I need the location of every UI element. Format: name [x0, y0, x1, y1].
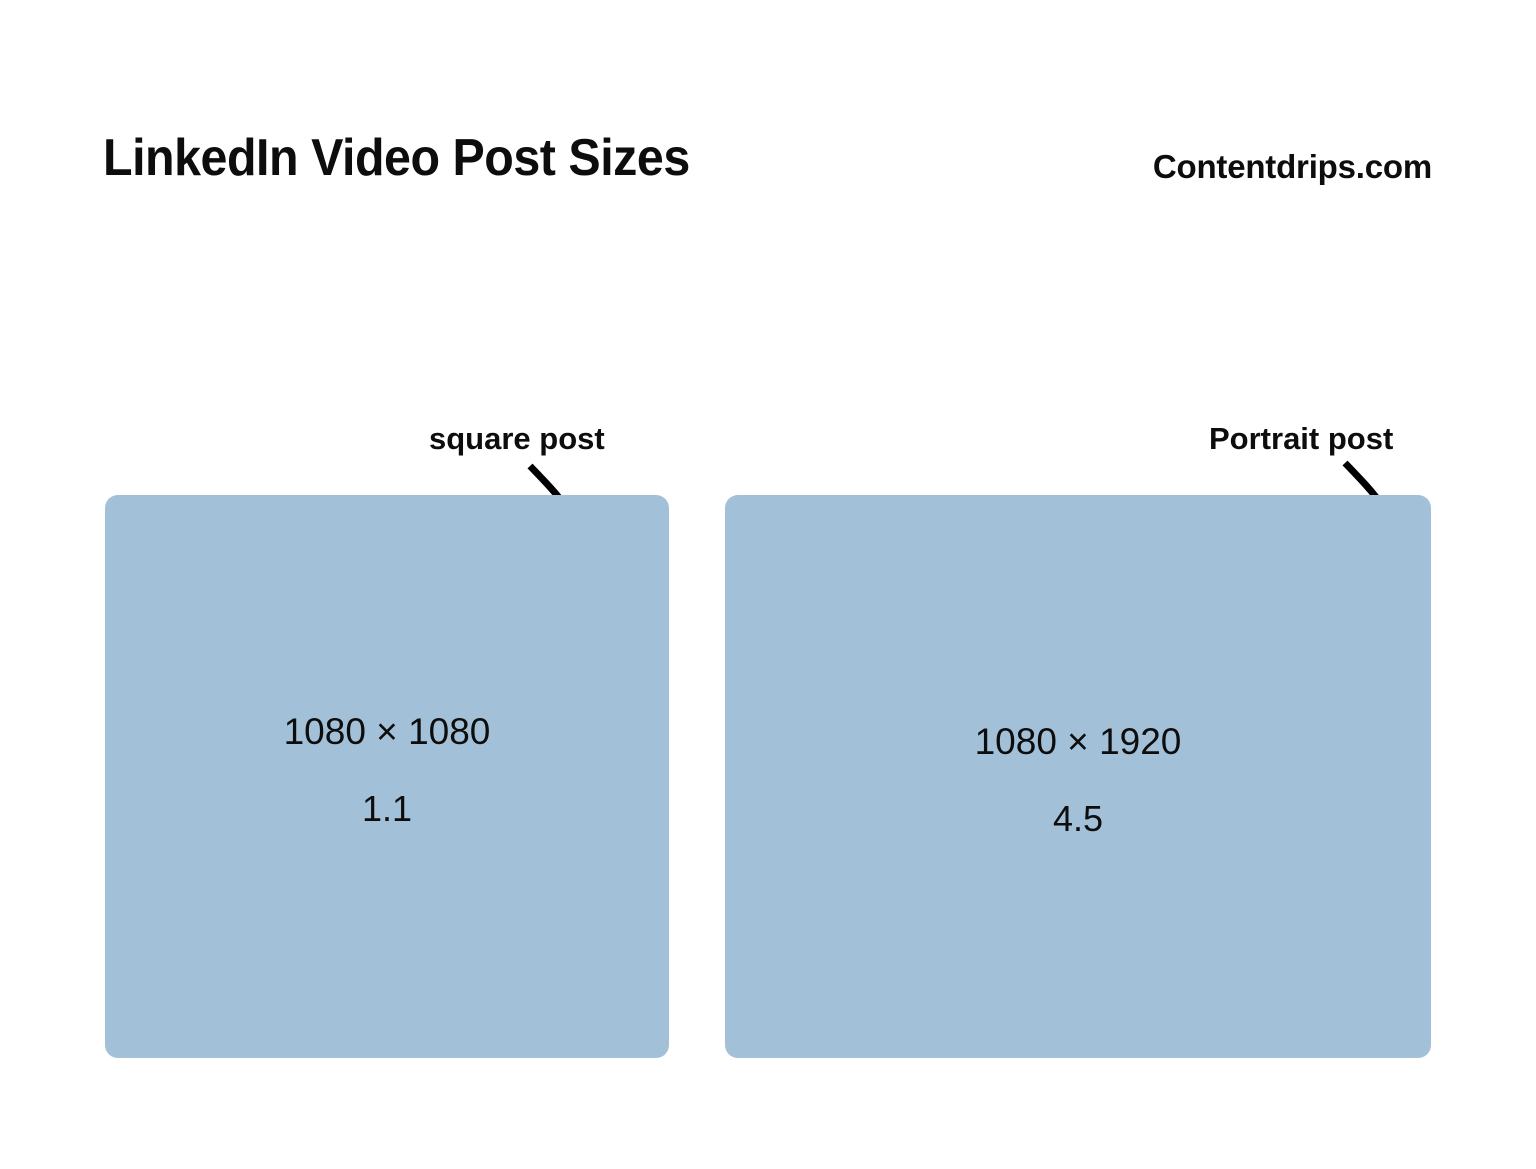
brand-watermark: Contentdrips.com [1153, 150, 1432, 183]
page-title: LinkedIn Video Post Sizes [103, 132, 690, 184]
card-ratio-portrait: 4.5 [1053, 801, 1103, 837]
card-dimensions-square: 1080 × 1080 [284, 713, 491, 750]
callout-label-portrait-post: Portrait post [1209, 423, 1393, 454]
card-dimensions-portrait: 1080 × 1920 [975, 723, 1182, 760]
size-card-portrait-post: 1080 × 1920 4.5 [725, 495, 1431, 1058]
card-ratio-square: 1.1 [362, 791, 412, 827]
callout-label-square-post: square post [429, 423, 605, 454]
size-card-square-post: 1080 × 1080 1.1 [105, 495, 669, 1058]
infographic-canvas: LinkedIn Video Post Sizes Contentdrips.c… [0, 0, 1536, 1169]
